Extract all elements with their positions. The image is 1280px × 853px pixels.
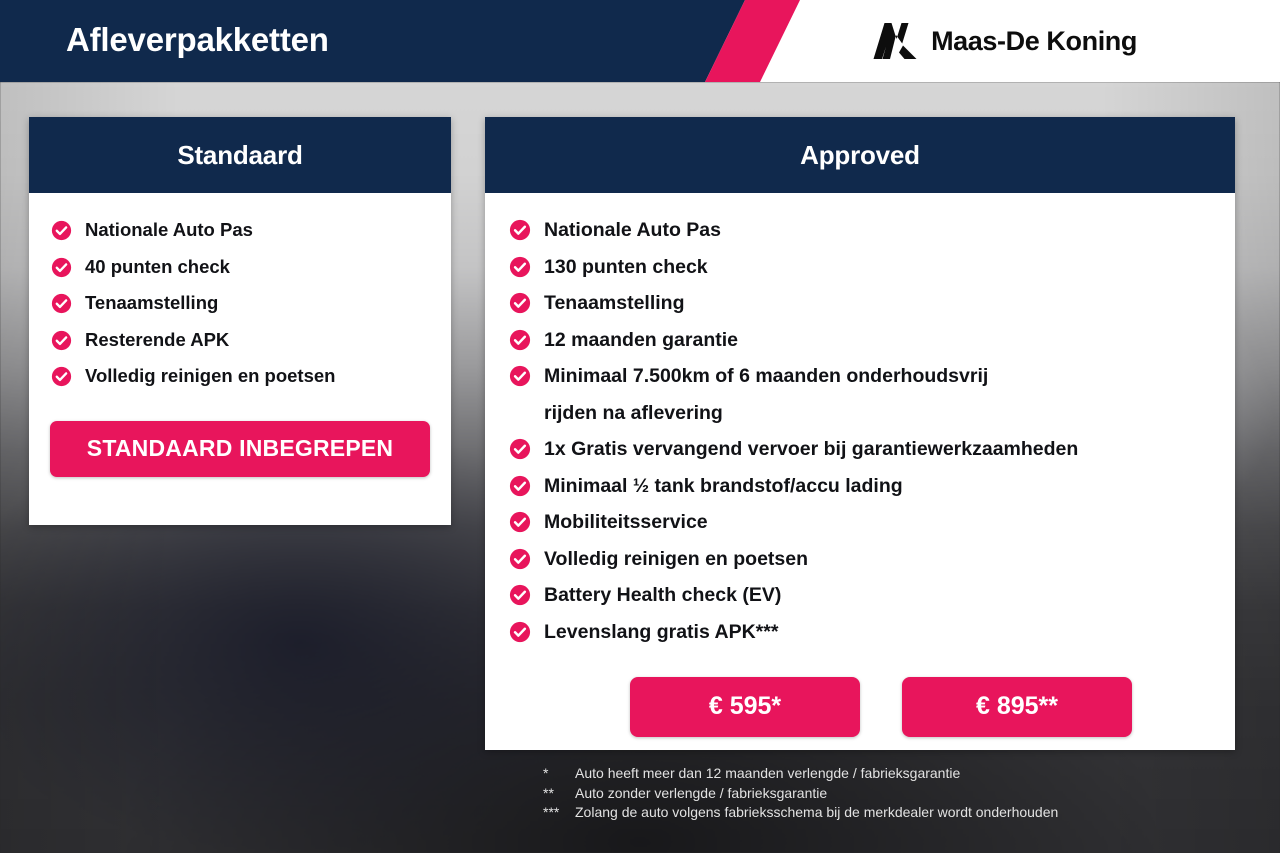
feature-item: 40 punten check bbox=[29, 249, 451, 286]
feature-item: 1x Gratis vervangend vervoer bij garanti… bbox=[485, 431, 1235, 468]
check-circle-icon bbox=[509, 219, 531, 241]
footnote-marker: *** bbox=[543, 803, 575, 823]
feature-list-standaard: Nationale Auto Pas40 punten checkTenaams… bbox=[29, 212, 451, 395]
page-header: Afleverpakketten Maas-De Koning bbox=[0, 0, 1280, 82]
feature-label: 40 punten check bbox=[85, 249, 230, 286]
footnote-marker: * bbox=[543, 764, 575, 784]
check-circle-icon bbox=[509, 292, 531, 314]
check-circle-icon bbox=[51, 220, 72, 241]
feature-item: Tenaamstelling bbox=[29, 285, 451, 322]
check-circle-icon bbox=[509, 548, 531, 570]
feature-item: Volledig reinigen en poetsen bbox=[485, 541, 1235, 578]
feature-item: 130 punten check bbox=[485, 249, 1235, 286]
check-circle-icon bbox=[509, 329, 531, 351]
feature-label: Battery Health check (EV) bbox=[544, 577, 781, 614]
feature-item: Minimaal ½ tank brandstof/accu lading bbox=[485, 468, 1235, 505]
brand-logo: Maas-De Koning bbox=[872, 0, 1137, 82]
footnote-text: Zolang de auto volgens fabrieksschema bi… bbox=[575, 803, 1058, 823]
feature-label: Volledig reinigen en poetsen bbox=[85, 358, 335, 395]
card-title-approved: Approved bbox=[800, 140, 920, 171]
package-card-approved: Approved Nationale Auto Pas130 punten ch… bbox=[485, 117, 1235, 750]
feature-item: Nationale Auto Pas bbox=[29, 212, 451, 249]
page-title: Afleverpakketten bbox=[66, 0, 329, 82]
card-body-standaard: Nationale Auto Pas40 punten checkTenaams… bbox=[29, 193, 451, 477]
check-circle-icon bbox=[509, 256, 531, 278]
feature-label: Levenslang gratis APK*** bbox=[544, 614, 778, 651]
feature-label: Tenaamstelling bbox=[544, 285, 685, 322]
standaard-included-button[interactable]: STANDAARD INBEGREPEN bbox=[50, 421, 430, 477]
feature-item: Tenaamstelling bbox=[485, 285, 1235, 322]
footnote-text: Auto heeft meer dan 12 maanden verlengde… bbox=[575, 764, 960, 784]
feature-label: Minimaal 7.500km of 6 maanden onderhouds… bbox=[544, 358, 988, 431]
footnote: *Auto heeft meer dan 12 maanden verlengd… bbox=[543, 764, 1243, 784]
feature-item: Levenslang gratis APK*** bbox=[485, 614, 1235, 651]
feature-label: Tenaamstelling bbox=[85, 285, 218, 322]
feature-label: Nationale Auto Pas bbox=[544, 212, 721, 249]
feature-list-approved: Nationale Auto Pas130 punten checkTenaam… bbox=[485, 212, 1235, 650]
check-circle-icon bbox=[509, 365, 531, 387]
check-circle-icon bbox=[51, 366, 72, 387]
feature-item: Mobiliteitsservice bbox=[485, 504, 1235, 541]
package-card-standaard: Standaard Nationale Auto Pas40 punten ch… bbox=[29, 117, 451, 525]
footnote: **Auto zonder verlengde / fabrieksgarant… bbox=[543, 784, 1243, 804]
footnote-list: *Auto heeft meer dan 12 maanden verlengd… bbox=[543, 764, 1243, 823]
standaard-button-wrap: STANDAARD INBEGREPEN bbox=[29, 395, 451, 477]
check-circle-icon bbox=[509, 584, 531, 606]
maas-de-koning-monogram-icon bbox=[872, 22, 918, 60]
feature-item: Minimaal 7.500km of 6 maanden onderhouds… bbox=[485, 358, 1235, 431]
card-body-approved: Nationale Auto Pas130 punten checkTenaam… bbox=[485, 193, 1235, 737]
feature-label: Nationale Auto Pas bbox=[85, 212, 253, 249]
card-title-standaard: Standaard bbox=[177, 140, 302, 171]
card-header-standaard: Standaard bbox=[29, 117, 451, 193]
price-button-row: € 595*€ 895** bbox=[485, 650, 1235, 737]
check-circle-icon bbox=[51, 257, 72, 278]
feature-label: 130 punten check bbox=[544, 249, 708, 286]
feature-label: Volledig reinigen en poetsen bbox=[544, 541, 808, 578]
check-circle-icon bbox=[51, 330, 72, 351]
feature-item: Battery Health check (EV) bbox=[485, 577, 1235, 614]
check-circle-icon bbox=[51, 293, 72, 314]
feature-label: Mobiliteitsservice bbox=[544, 504, 708, 541]
check-circle-icon bbox=[509, 475, 531, 497]
feature-label: Minimaal ½ tank brandstof/accu lading bbox=[544, 468, 903, 505]
feature-item: Resterende APK bbox=[29, 322, 451, 359]
check-circle-icon bbox=[509, 438, 531, 460]
promo-page: Afleverpakketten Maas-De Koning Standaar… bbox=[0, 0, 1280, 853]
footnote-marker: ** bbox=[543, 784, 575, 804]
feature-item: Volledig reinigen en poetsen bbox=[29, 358, 451, 395]
check-circle-icon bbox=[509, 511, 531, 533]
feature-label: 1x Gratis vervangend vervoer bij garanti… bbox=[544, 431, 1078, 468]
card-header-approved: Approved bbox=[485, 117, 1235, 193]
feature-label: 12 maanden garantie bbox=[544, 322, 738, 359]
brand-name: Maas-De Koning bbox=[931, 26, 1137, 57]
feature-item: 12 maanden garantie bbox=[485, 322, 1235, 359]
check-circle-icon bbox=[509, 621, 531, 643]
feature-item: Nationale Auto Pas bbox=[485, 212, 1235, 249]
feature-label: Resterende APK bbox=[85, 322, 229, 359]
price-button-2[interactable]: € 895** bbox=[902, 677, 1132, 737]
footnote: ***Zolang de auto volgens fabrieksschema… bbox=[543, 803, 1243, 823]
price-button-1[interactable]: € 595* bbox=[630, 677, 860, 737]
footnote-text: Auto zonder verlengde / fabrieksgarantie bbox=[575, 784, 827, 804]
